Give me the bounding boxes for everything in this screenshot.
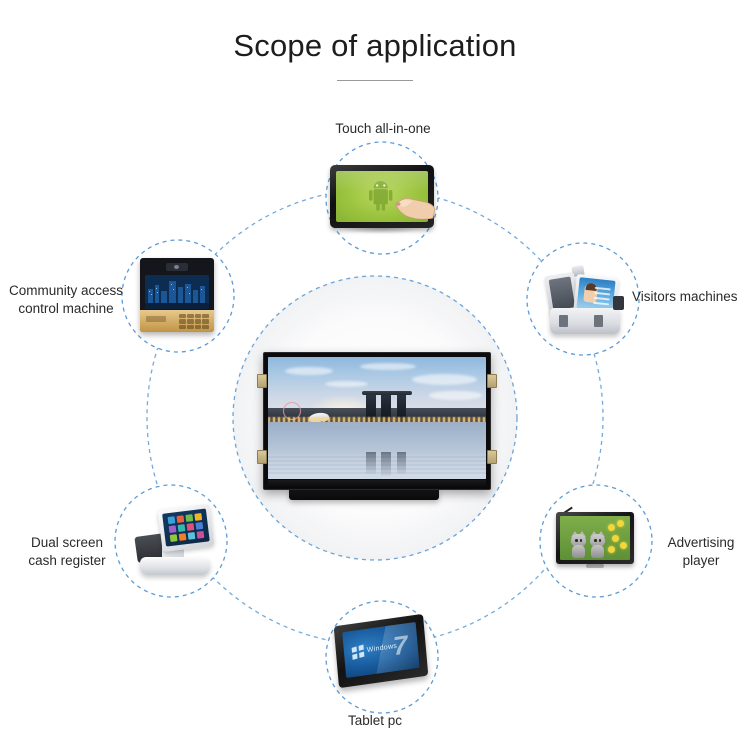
panel-bottom-bar (268, 480, 486, 488)
mounting-bracket (257, 374, 267, 388)
pos-screen (162, 508, 210, 546)
keypad-buttons[interactable] (179, 314, 209, 329)
device-visitors-machine (542, 262, 628, 338)
tablet-screen: Windows 7 (342, 622, 419, 678)
device-community-access-control (140, 258, 218, 336)
label-tablet-pc: Tablet pc (290, 712, 460, 730)
card-reader (613, 296, 624, 310)
cloud (285, 367, 333, 376)
infographic-page: Scope of application Touch all-in-one (0, 0, 750, 750)
yellow-flowers (606, 518, 628, 558)
device-cash-register (132, 505, 218, 579)
form-lines (593, 287, 611, 309)
camera-icon (166, 263, 188, 271)
bay-water (268, 422, 486, 479)
mounting-bracket (487, 450, 497, 464)
registration-screen (577, 277, 616, 312)
panel-screen (268, 357, 486, 479)
mbs-skypark (362, 391, 412, 395)
kitten-right (589, 534, 606, 558)
brand-mark (146, 316, 166, 322)
tile-grid (168, 512, 210, 542)
cloud (325, 381, 369, 387)
windows-logo-icon (352, 645, 365, 660)
device-shadow (340, 228, 424, 234)
city-skyline-image (145, 275, 209, 309)
display-stand (586, 564, 604, 568)
keypad[interactable] (140, 310, 214, 332)
water-ripples (268, 454, 486, 476)
label-dual-screen-cash-register: Dual screen cash register (4, 534, 130, 570)
label-visitors-machines: Visitors machines (632, 288, 750, 306)
device-touch-all-in-one (330, 165, 440, 233)
pos-main-display (158, 504, 215, 552)
cloud (412, 374, 477, 385)
ad-screen (560, 516, 630, 560)
mounting-bracket (487, 374, 497, 388)
pos-base (140, 557, 210, 575)
screen-glare (373, 622, 419, 678)
kiosk-base (550, 308, 620, 334)
cloud (429, 391, 481, 400)
access-panel-body (140, 258, 214, 332)
center-lcd-panel (257, 352, 497, 504)
access-panel-screen (145, 275, 209, 309)
display-bezel (556, 512, 634, 564)
pointing-hand-icon (392, 189, 438, 219)
mounting-bracket (257, 450, 267, 464)
label-touch-all-in-one: Touch all-in-one (283, 120, 483, 138)
kitten-left (570, 534, 587, 558)
device-tablet-pc: Windows 7 (336, 620, 432, 690)
tablet-bezel: Windows 7 (334, 614, 429, 688)
cloud (360, 363, 417, 370)
device-advertising-player (556, 508, 640, 570)
label-advertising-player: Advertising player (652, 534, 750, 570)
label-community-access-control: Community access control machine (0, 282, 132, 318)
panel-frame (263, 352, 491, 490)
